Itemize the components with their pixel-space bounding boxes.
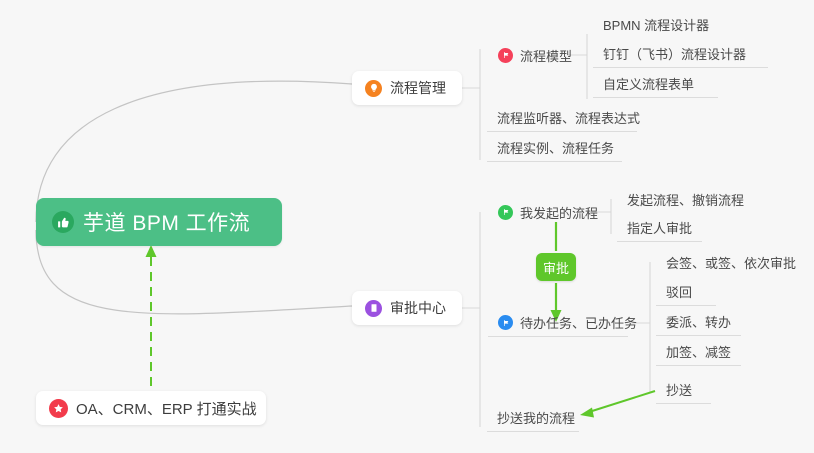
clipboard-icon [365, 300, 382, 317]
flag-icon [498, 48, 513, 63]
root-node[interactable]: 芋道 BPM 工作流 [36, 198, 282, 246]
branch-label-process-management: 流程管理 [390, 78, 446, 98]
leaf-add-remove-sign[interactable]: 加签、减签 [656, 338, 741, 366]
leaf-cc-my-process[interactable]: 抄送我的流程 [487, 404, 579, 432]
leaf-label-dingtalk-designer: 钉钉（飞书）流程设计器 [603, 44, 746, 63]
leaf-label-assignee-approval: 指定人审批 [627, 218, 692, 237]
thumbs-up-icon [52, 211, 74, 233]
leaf-process-listener[interactable]: 流程监听器、流程表达式 [487, 104, 637, 132]
star-icon [49, 399, 68, 418]
leaf-delegate-transfer[interactable]: 委派、转办 [656, 308, 741, 336]
integration-arrow-head [146, 245, 157, 257]
leaf-custom-form[interactable]: 自定义流程表单 [593, 70, 718, 98]
leaf-label-bpmn-designer: BPMN 流程设计器 [603, 15, 709, 34]
lightbulb-icon [365, 80, 382, 97]
leaf-todo-done-tasks[interactable]: 待办任务、已办任务 [488, 309, 628, 337]
leaf-label-process-model: 流程模型 [520, 46, 572, 65]
leaf-label-add-remove-sign: 加签、减签 [666, 342, 731, 361]
leaf-label-cc: 抄送 [666, 380, 692, 399]
approve-badge: 审批 [536, 253, 576, 281]
leaf-dingtalk-designer[interactable]: 钉钉（飞书）流程设计器 [593, 40, 768, 68]
flag-icon [498, 315, 513, 330]
integration-node[interactable]: OA、CRM、ERP 打通实战 [36, 391, 266, 425]
leaf-label-start-cancel-process: 发起流程、撤销流程 [627, 190, 744, 209]
branch-node-approval-center[interactable]: 审批中心 [352, 291, 462, 325]
leaf-label-process-instance: 流程实例、流程任务 [497, 138, 614, 157]
leaf-label-custom-form: 自定义流程表单 [603, 74, 694, 93]
root-label: 芋道 BPM 工作流 [83, 207, 250, 237]
leaf-process-instance[interactable]: 流程实例、流程任务 [487, 134, 622, 162]
branch-label-approval-center: 审批中心 [390, 298, 446, 318]
leaf-label-todo-done-tasks: 待办任务、已办任务 [520, 313, 637, 332]
leaf-bpmn-designer[interactable]: BPMN 流程设计器 [593, 10, 753, 38]
leaf-start-cancel-process[interactable]: 发起流程、撤销流程 [617, 185, 752, 213]
leaf-assignee-approval[interactable]: 指定人审批 [617, 214, 702, 242]
mindmap-canvas: 芋道 BPM 工作流 流程管理 流程模型 BPMN 流程设计器 钉钉（飞书）流程… [0, 0, 814, 453]
integration-node-label: OA、CRM、ERP 打通实战 [76, 398, 257, 419]
leaf-label-process-listener: 流程监听器、流程表达式 [497, 108, 640, 127]
leaf-countersign[interactable]: 会签、或签、依次审批 [656, 248, 786, 276]
approve-badge-label: 审批 [543, 258, 569, 277]
cc-flow-arrow [589, 391, 655, 412]
leaf-cc[interactable]: 抄送 [656, 376, 711, 404]
leaf-label-countersign: 会签、或签、依次审批 [666, 253, 796, 272]
leaf-label-my-started-process: 我发起的流程 [520, 203, 598, 222]
branch-node-process-management[interactable]: 流程管理 [352, 71, 462, 105]
leaf-label-reject: 驳回 [666, 282, 692, 301]
leaf-my-started-process[interactable]: 我发起的流程 [488, 198, 588, 226]
leaf-process-model[interactable]: 流程模型 [488, 41, 578, 69]
flag-icon [498, 205, 513, 220]
leaf-reject[interactable]: 驳回 [656, 278, 716, 306]
leaf-label-delegate-transfer: 委派、转办 [666, 312, 731, 331]
leaf-label-cc-my-process: 抄送我的流程 [497, 408, 575, 427]
cc-arrow-head [580, 408, 594, 418]
